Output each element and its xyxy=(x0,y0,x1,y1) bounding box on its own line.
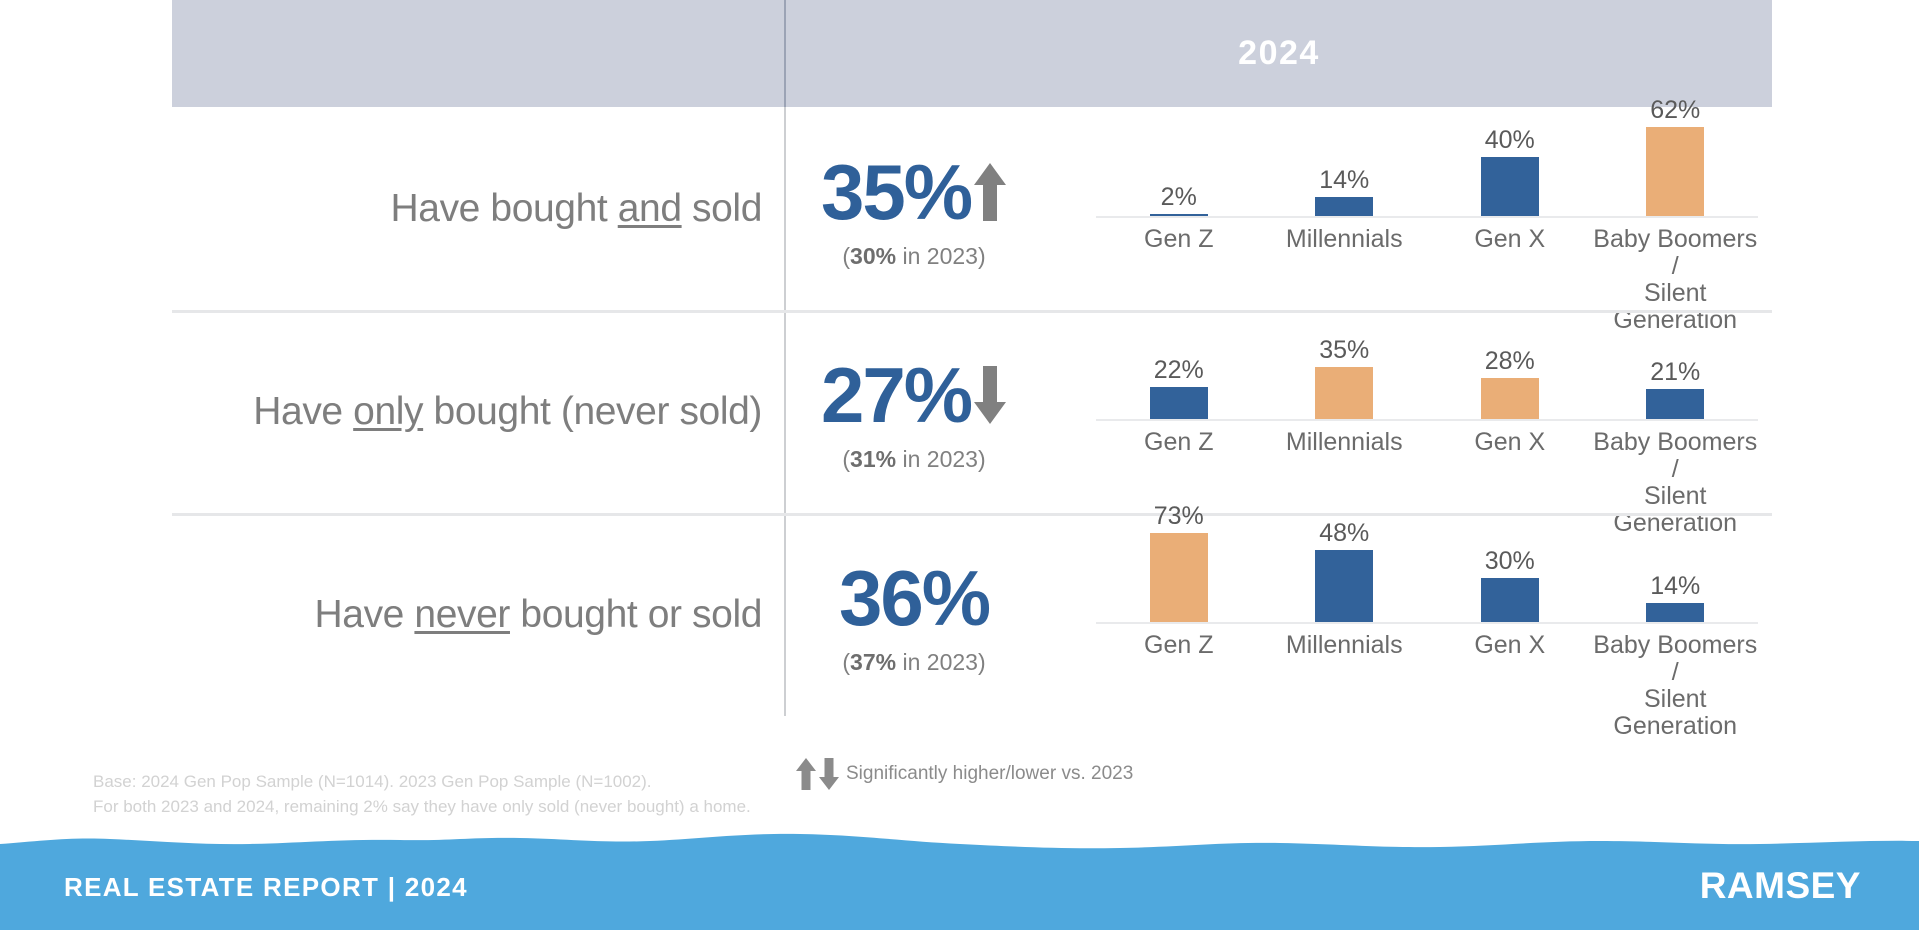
row-stat-main: 27% xyxy=(821,356,1007,434)
arrow-down-icon xyxy=(973,364,1007,426)
row-stat-main: 35% xyxy=(821,153,1007,231)
chart-axis-labels: Gen Z Millennials Gen X Baby Boomers / S… xyxy=(1096,423,1758,487)
legend-text: Significantly higher/lower vs. 2023 xyxy=(846,763,1133,785)
row-label-text: Have only bought (never sold) xyxy=(253,390,762,434)
table-row: Have only bought (never sold) 27% (31% i… xyxy=(172,310,1772,513)
arrow-down-icon xyxy=(818,757,840,791)
chart-axis-labels: Gen Z Millennials Gen X Baby Boomers / S… xyxy=(1096,220,1758,284)
row-stat-value: 35% xyxy=(821,153,971,231)
bar-value-label: 73% xyxy=(1154,504,1204,529)
bar-chart-bars: 2% 14% 40% xyxy=(1096,98,1758,218)
bar-column: 21% xyxy=(1593,301,1759,421)
bar-column: 14% xyxy=(1593,504,1759,624)
bar-column: 73% xyxy=(1096,504,1262,624)
bar-column: 14% xyxy=(1262,98,1428,218)
footer-title: REAL ESTATE REPORT | 2024 xyxy=(64,872,468,903)
axis-category-label: Gen Z xyxy=(1096,220,1262,253)
row-label-cell: Have only bought (never sold) xyxy=(172,310,786,513)
row-label-cell: Have bought and sold xyxy=(172,107,786,310)
bar-rect xyxy=(1646,603,1704,624)
ramsey-logo: RAMSEY xyxy=(1700,865,1861,907)
chart-axis-line xyxy=(1096,419,1758,421)
bar-column: 30% xyxy=(1427,504,1593,624)
chart-axis-line xyxy=(1096,216,1758,218)
row-stat-value: 36% xyxy=(839,559,989,637)
axis-category-label: Gen Z xyxy=(1096,626,1262,659)
bar-column: 22% xyxy=(1096,301,1262,421)
table-header-row: 2024 xyxy=(172,0,1772,107)
bar-value-label: 2% xyxy=(1161,185,1197,210)
bar-column: 2% xyxy=(1096,98,1262,218)
row-previous-year-value: (30% in 2023) xyxy=(842,243,985,270)
chart-legend: Significantly higher/lower vs. 2023 xyxy=(795,757,1133,791)
arrow-up-icon xyxy=(795,757,817,791)
bar-value-label: 35% xyxy=(1319,338,1369,363)
table-header-right-cell: 2024 xyxy=(786,0,1772,107)
footer: REAL ESTATE REPORT | 2024 RAMSEY xyxy=(0,828,1919,930)
header-year-label: 2024 xyxy=(1238,34,1320,73)
bar-value-label: 14% xyxy=(1319,168,1369,193)
bar-value-label: 22% xyxy=(1154,358,1204,383)
bar-column: 35% xyxy=(1262,301,1428,421)
bar-rect xyxy=(1481,578,1539,624)
axis-category-label: Millennials xyxy=(1262,626,1428,659)
axis-category-label: Millennials xyxy=(1262,423,1428,456)
axis-category-label: Millennials xyxy=(1262,220,1428,253)
bar-column: 40% xyxy=(1427,98,1593,218)
row-stat-cell: 27% (31% in 2023) xyxy=(786,310,1042,513)
slide-root: 2024 Have bought and sold 35% (30% in 2 xyxy=(0,0,1919,930)
table-row: Have bought and sold 35% (30% in 2023) xyxy=(172,107,1772,310)
bar-value-label: 21% xyxy=(1650,360,1700,385)
axis-category-label: Gen Z xyxy=(1096,423,1262,456)
axis-category-label: Gen X xyxy=(1427,626,1593,659)
axis-category-label: Baby Boomers / Silent Generation xyxy=(1593,626,1759,740)
bar-value-label: 40% xyxy=(1485,128,1535,153)
bar-rect xyxy=(1150,387,1208,421)
bar-chart: 2% 14% 40% xyxy=(1096,107,1758,310)
bar-rect xyxy=(1481,157,1539,218)
row-stat-value: 27% xyxy=(821,356,971,434)
bar-value-label: 28% xyxy=(1485,349,1535,374)
row-label-text: Have never bought or sold xyxy=(315,593,762,637)
bar-chart: 22% 35% 28% xyxy=(1096,310,1758,513)
bar-rect xyxy=(1646,127,1704,218)
bar-chart-bars: 22% 35% 28% xyxy=(1096,301,1758,421)
row-previous-year-value: (37% in 2023) xyxy=(842,649,985,676)
bar-value-label: 48% xyxy=(1319,521,1369,546)
bar-column: 62% xyxy=(1593,98,1759,218)
bar-value-label: 14% xyxy=(1650,574,1700,599)
chart-axis-line xyxy=(1096,622,1758,624)
axis-category-label: Gen X xyxy=(1427,423,1593,456)
stats-table: 2024 Have bought and sold 35% (30% in 2 xyxy=(172,0,1772,716)
arrow-up-icon xyxy=(973,161,1007,223)
bar-rect xyxy=(1150,533,1208,624)
bar-rect xyxy=(1481,378,1539,421)
row-stat-cell: 35% (30% in 2023) xyxy=(786,107,1042,310)
row-chart-cell: 2% 14% 40% xyxy=(1042,107,1772,310)
bar-chart-bars: 73% 48% 30% xyxy=(1096,504,1758,624)
bar-column: 48% xyxy=(1262,504,1428,624)
chart-axis-labels: Gen Z Millennials Gen X Baby Boomers / S… xyxy=(1096,626,1758,690)
bar-rect xyxy=(1315,367,1373,421)
row-chart-cell: 22% 35% 28% xyxy=(1042,310,1772,513)
bar-column: 28% xyxy=(1427,301,1593,421)
row-label-text: Have bought and sold xyxy=(391,187,762,231)
bar-rect xyxy=(1315,197,1373,218)
row-chart-cell: 73% 48% 30% xyxy=(1042,513,1772,716)
table-row: Have never bought or sold 36% (37% in 20… xyxy=(172,513,1772,716)
bar-chart: 73% 48% 30% xyxy=(1096,513,1758,716)
table-body: Have bought and sold 35% (30% in 2023) xyxy=(172,107,1772,716)
row-stat-cell: 36% (37% in 2023) xyxy=(786,513,1042,716)
row-label-cell: Have never bought or sold xyxy=(172,513,786,716)
table-header-left-cell xyxy=(172,0,786,107)
bar-value-label: 62% xyxy=(1650,98,1700,123)
footnote-block: Base: 2024 Gen Pop Sample (N=1014). 2023… xyxy=(93,770,751,819)
row-previous-year-value: (31% in 2023) xyxy=(842,446,985,473)
footnote-line-1: Base: 2024 Gen Pop Sample (N=1014). 2023… xyxy=(93,770,751,795)
bar-rect xyxy=(1646,389,1704,421)
axis-category-label: Gen X xyxy=(1427,220,1593,253)
footnote-line-2: For both 2023 and 2024, remaining 2% say… xyxy=(93,795,751,820)
bar-rect xyxy=(1315,550,1373,624)
row-stat-main: 36% xyxy=(839,559,989,637)
bar-value-label: 30% xyxy=(1485,549,1535,574)
